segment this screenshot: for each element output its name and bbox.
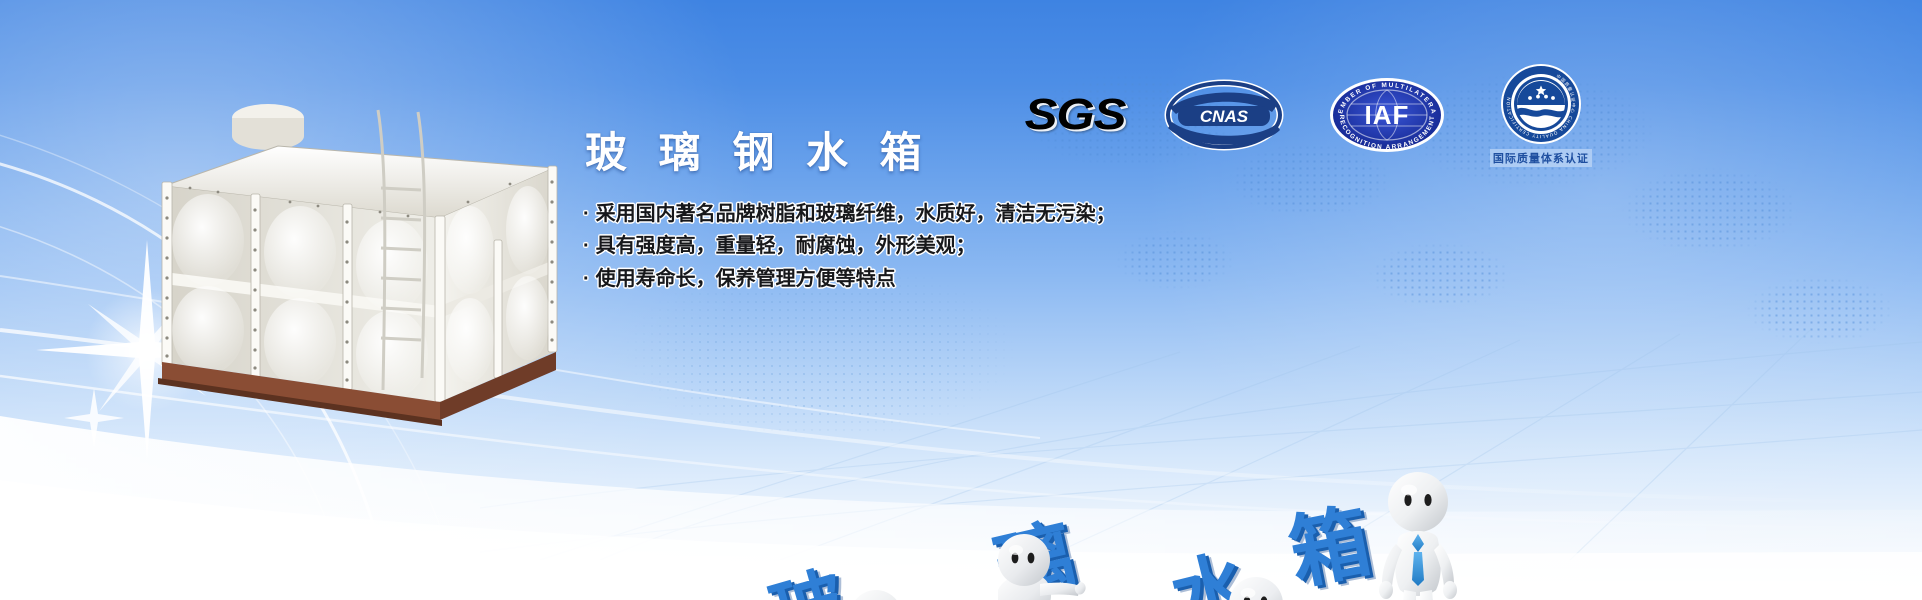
figure-push-1 (820, 582, 940, 600)
certification-logos: SGS CNAS (1030, 72, 1592, 158)
figure-push-3 (1198, 570, 1322, 600)
iaf-logo-icon: MEMBER OF MULTILATERAL RECOGNITION ARRAN… (1328, 77, 1446, 153)
list-item-label: 采用国内著名品牌树脂和玻璃纤维，水质好，清洁无污染； (596, 203, 1116, 225)
figure-push-2 (962, 532, 1094, 600)
figure-stand (1364, 466, 1472, 600)
sgs-logo: SGS (1030, 93, 1120, 137)
iaf-logo-text: IAF (1364, 100, 1409, 130)
iaf-logo: MEMBER OF MULTILATERAL RECOGNITION ARRAN… (1328, 77, 1446, 153)
promo-banner: 玻 璃 钢 水 箱 ·采用国内著名品牌树脂和玻璃纤维，水质好，清洁无污染； ·具… (0, 0, 1922, 600)
quality-system-cert-logo: 中国质量认证中心 CHINA QUALITY CERTIFICATION 国际质… (1490, 63, 1592, 167)
quality-seal-caption: 国际质量体系认证 (1490, 149, 1592, 167)
bullet-marker: · (583, 203, 590, 225)
quality-seal-icon: 中国质量认证中心 CHINA QUALITY CERTIFICATION (1500, 63, 1582, 145)
list-item: ·采用国内著名品牌树脂和玻璃纤维，水质好，清洁无污染； (583, 198, 1203, 230)
list-item-label: 具有强度高，重量轻，耐腐蚀，外形美观； (596, 235, 976, 257)
bullet-marker: · (583, 235, 590, 257)
cnas-logo: CNAS (1164, 78, 1284, 152)
sgs-logo-text: SGS (1025, 93, 1126, 137)
cnas-logo-icon: CNAS (1164, 78, 1284, 152)
list-item: ·具有强度高，重量轻，耐腐蚀，外形美观； (583, 230, 1203, 262)
cnas-logo-text: CNAS (1200, 107, 1249, 126)
mascot-scene: 玻 璃 水 箱 (0, 270, 1922, 600)
